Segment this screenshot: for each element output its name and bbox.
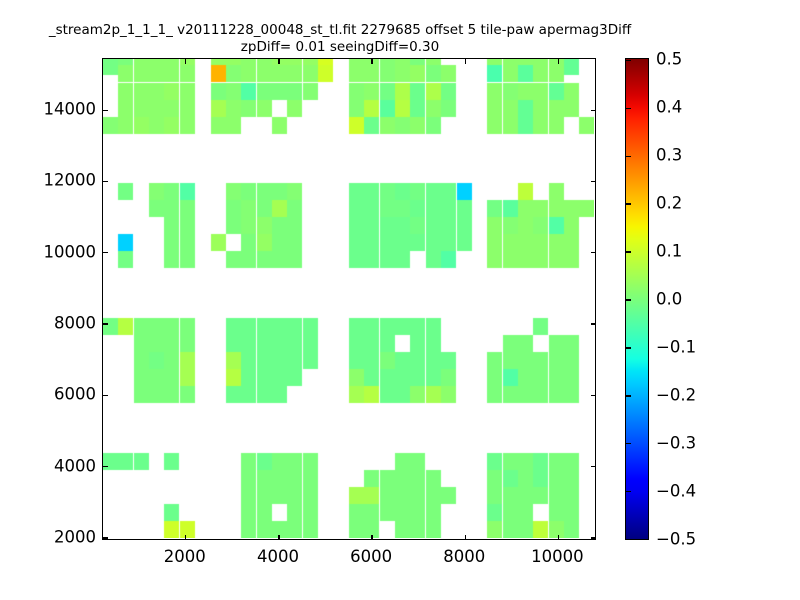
x-axis-tick-label: 2000 bbox=[164, 547, 206, 566]
y-axis-tick bbox=[103, 181, 108, 182]
colorbar-tick-label: 0.2 bbox=[656, 194, 682, 213]
x-axis-tick bbox=[465, 535, 466, 540]
colorbar-tick-label: −0.2 bbox=[656, 385, 696, 404]
colorbar-tick-label: 0.5 bbox=[656, 50, 682, 69]
y-axis-tick-label: 4000 bbox=[54, 456, 96, 475]
plot-axes bbox=[102, 58, 596, 540]
y-axis-tick bbox=[591, 395, 596, 396]
colorbar-tick-label: 0.3 bbox=[656, 146, 682, 165]
y-axis-tick bbox=[103, 110, 108, 111]
y-axis-tick bbox=[591, 110, 596, 111]
y-axis-tick-label: 14000 bbox=[44, 100, 97, 119]
colorbar-tick bbox=[626, 347, 631, 348]
x-axis-tick-label: 4000 bbox=[257, 547, 299, 566]
colorbar-tick-label: 0.4 bbox=[656, 98, 682, 117]
colorbar-tick bbox=[626, 443, 631, 444]
y-axis-tick bbox=[591, 537, 596, 538]
colorbar-tick bbox=[626, 491, 631, 492]
y-axis-tick-label: 8000 bbox=[54, 314, 96, 333]
y-axis-tick-label: 6000 bbox=[54, 385, 96, 404]
colorbar-tick-label: 0.0 bbox=[656, 290, 682, 309]
y-axis-tick bbox=[103, 323, 108, 324]
x-axis-tick bbox=[278, 535, 279, 540]
y-axis-tick bbox=[103, 466, 108, 467]
plot-title-line2: zpDiff= 0.01 seeingDiff=0.30 bbox=[0, 39, 680, 56]
colorbar-tick-label: −0.1 bbox=[656, 337, 696, 356]
colorbar-tick bbox=[626, 539, 631, 540]
colorbar-tick bbox=[626, 156, 631, 157]
colorbar-tick-label: −0.5 bbox=[656, 529, 696, 548]
y-axis-tick bbox=[103, 252, 108, 253]
x-axis-tick bbox=[185, 535, 186, 540]
colorbar-tick bbox=[626, 299, 631, 300]
x-axis-tick bbox=[465, 59, 466, 64]
matplotlib-figure: _stream2p_1_1_1_ v20111228_00048_st_tl.f… bbox=[0, 0, 800, 600]
x-axis-tick bbox=[185, 59, 186, 64]
colorbar-tick bbox=[626, 108, 631, 109]
colorbar-tick bbox=[626, 203, 631, 204]
x-axis-tick-label: 10000 bbox=[531, 547, 584, 566]
y-axis-tick bbox=[591, 252, 596, 253]
y-axis-tick-label: 12000 bbox=[44, 171, 97, 190]
x-axis-tick bbox=[371, 59, 372, 64]
x-axis-tick bbox=[371, 535, 372, 540]
y-axis-tick bbox=[103, 395, 108, 396]
x-axis-tick bbox=[558, 535, 559, 540]
y-axis-tick bbox=[591, 323, 596, 324]
x-axis-tick-label: 8000 bbox=[443, 547, 485, 566]
heatmap-canvas bbox=[103, 59, 594, 538]
colorbar-tick-label: −0.4 bbox=[656, 481, 696, 500]
plot-title: _stream2p_1_1_1_ v20111228_00048_st_tl.f… bbox=[0, 22, 680, 56]
colorbar-tick-label: −0.3 bbox=[656, 433, 696, 452]
colorbar bbox=[625, 58, 649, 540]
x-axis-tick bbox=[558, 59, 559, 64]
y-axis-tick bbox=[591, 466, 596, 467]
colorbar-tick-label: 0.1 bbox=[656, 242, 682, 261]
colorbar-tick bbox=[626, 60, 631, 61]
y-axis-tick-label: 10000 bbox=[44, 242, 97, 261]
x-axis-tick-label: 6000 bbox=[350, 547, 392, 566]
y-axis-tick bbox=[591, 181, 596, 182]
plot-title-line1: _stream2p_1_1_1_ v20111228_00048_st_tl.f… bbox=[0, 22, 680, 39]
colorbar-tick bbox=[626, 251, 631, 252]
colorbar-tick bbox=[626, 395, 631, 396]
x-axis-tick bbox=[278, 59, 279, 64]
y-axis-tick bbox=[103, 537, 108, 538]
y-axis-tick-label: 2000 bbox=[54, 527, 96, 546]
